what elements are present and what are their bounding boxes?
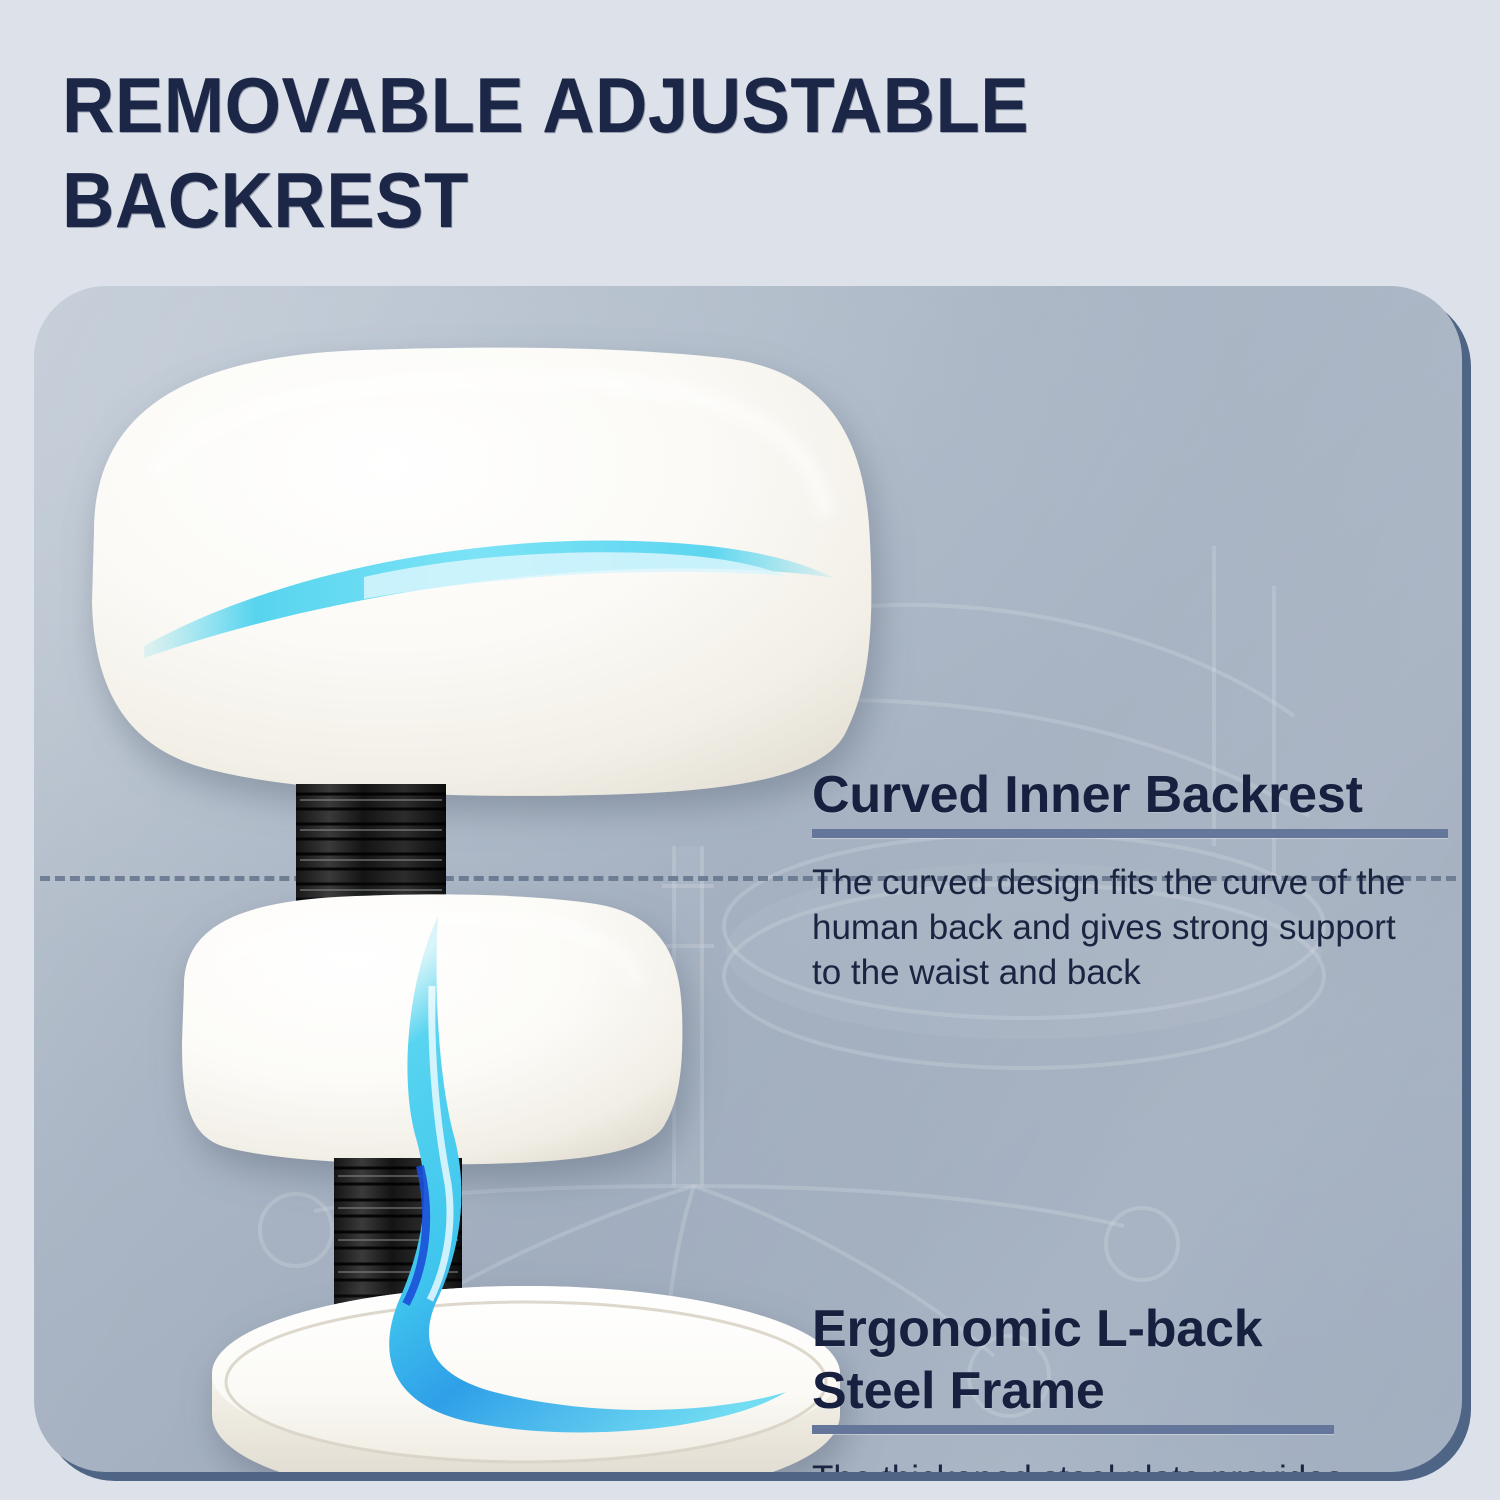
page-title: REMOVABLE ADJUSTABLE BACKREST bbox=[62, 58, 1402, 248]
top-cushion-highlight bbox=[154, 380, 826, 516]
seat-stitch-seam bbox=[226, 1302, 826, 1462]
page-title-line-2: BACKREST bbox=[62, 153, 1308, 248]
ribbed-steel-stem-bottom bbox=[334, 1158, 462, 1362]
round-seat-cushion bbox=[212, 1286, 840, 1472]
top-backrest-cushion bbox=[92, 348, 871, 796]
feature-block-ergonomic-l-back-steel-frame: Ergonomic L-back Steel Frame The thicken… bbox=[812, 1298, 1452, 1472]
feature-1-heading: Curved Inner Backrest bbox=[812, 764, 1452, 826]
page-title-line-1: REMOVABLE ADJUSTABLE bbox=[62, 58, 1308, 153]
feature-2-body: The thickened steel plate provides stron… bbox=[812, 1456, 1452, 1472]
feature-1-underline bbox=[812, 829, 1448, 838]
feature-2-heading: Ergonomic L-back Steel Frame bbox=[812, 1298, 1452, 1422]
ribbed-steel-stem-top bbox=[296, 784, 446, 944]
infographic-root: REMOVABLE ADJUSTABLE BACKREST bbox=[0, 0, 1500, 1500]
feature-card: Curved Inner Backrest The curved design … bbox=[34, 286, 1462, 1472]
feature-1-body: The curved design fits the curve of the … bbox=[812, 860, 1452, 995]
feature-2-underline bbox=[812, 1425, 1334, 1434]
feature-block-curved-inner-backrest: Curved Inner Backrest The curved design … bbox=[812, 764, 1452, 995]
bottom-backrest-cushion bbox=[182, 894, 682, 1164]
bottom-cushion-highlight bbox=[224, 919, 638, 986]
card-surface: Curved Inner Backrest The curved design … bbox=[34, 286, 1462, 1472]
curved-swoosh-icon bbox=[144, 541, 834, 658]
l-shape-curve-icon bbox=[389, 916, 786, 1432]
